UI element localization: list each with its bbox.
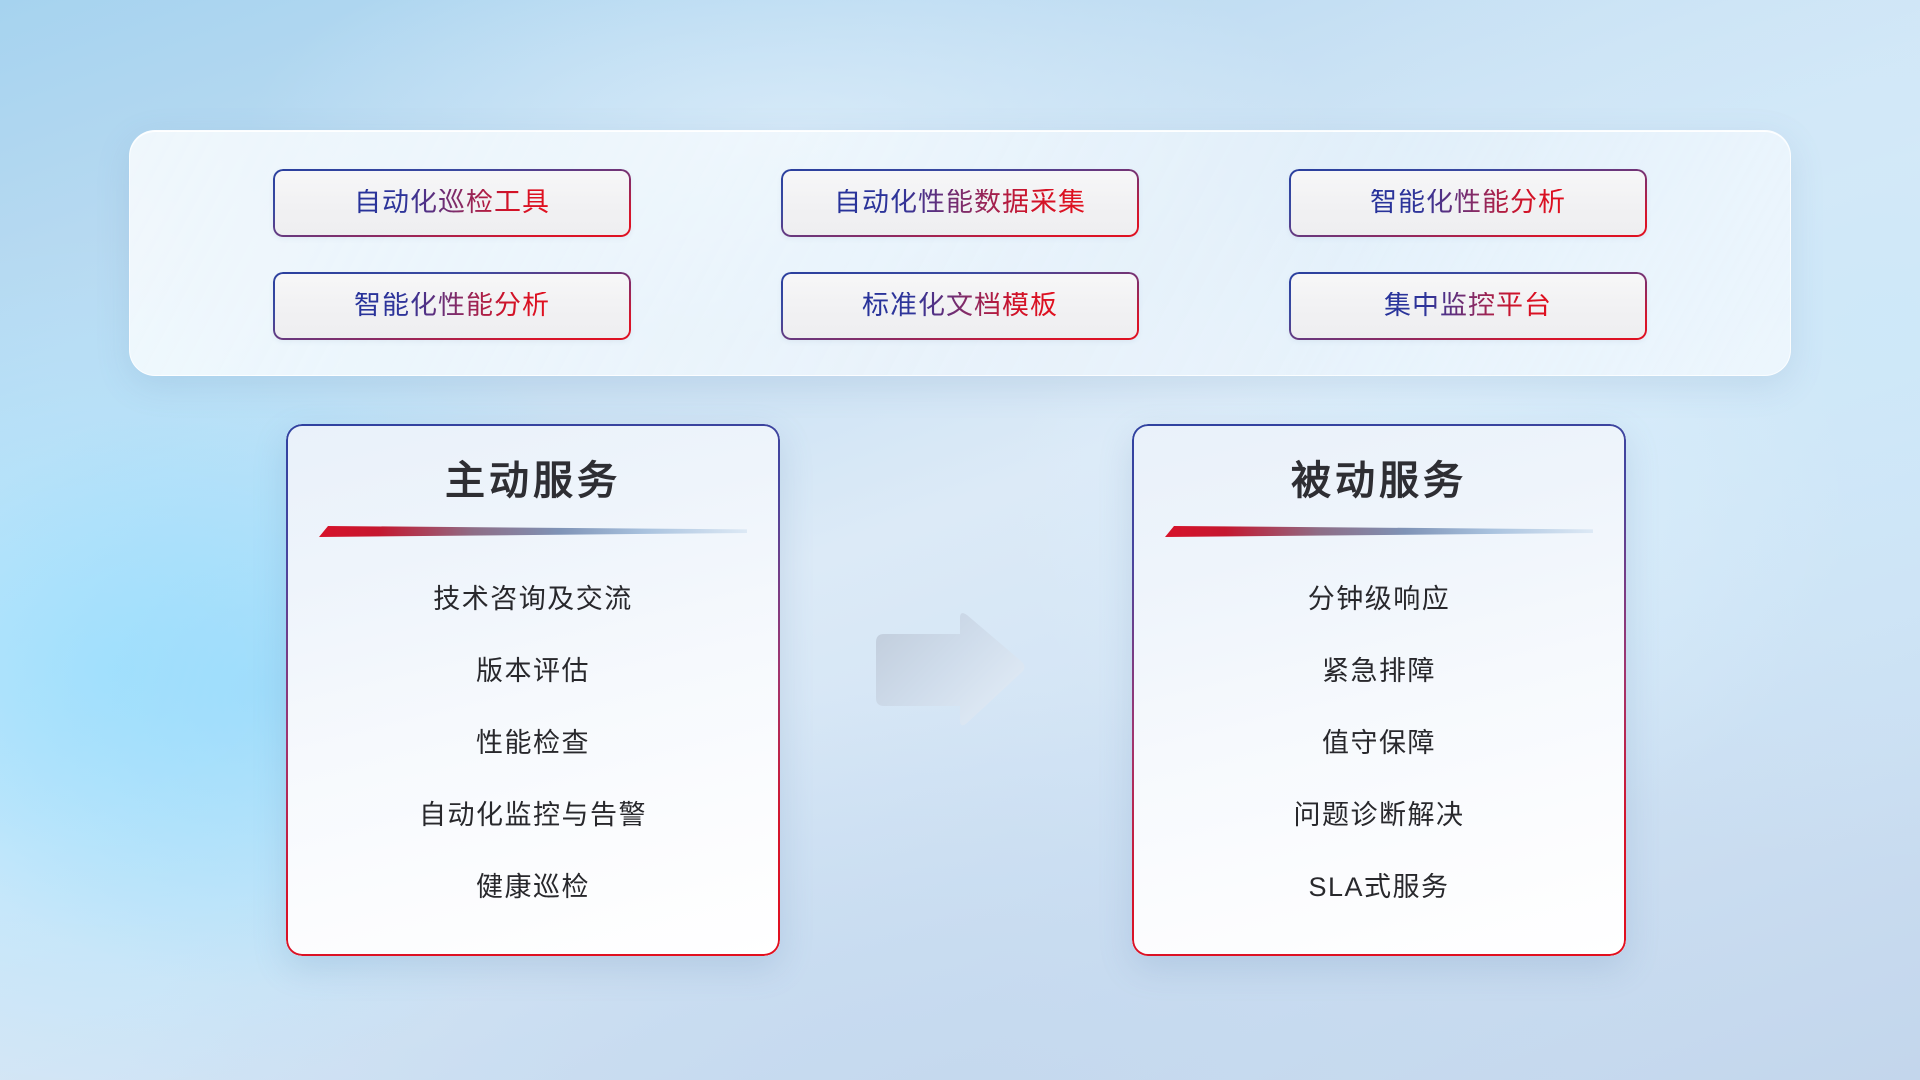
capability-chip-label: 自动化性能数据采集 — [834, 189, 1086, 216]
capability-panel: 自动化巡检工具 自动化性能数据采集 智能化性能分析 智能化性能分析 标准化文档模… — [129, 130, 1791, 376]
capability-cell: 智能化性能分析 — [1214, 161, 1722, 244]
capability-cell: 标准化文档模板 — [706, 264, 1214, 347]
capability-chip-intelligent-perf-analysis-top[interactable]: 智能化性能分析 — [1289, 169, 1647, 237]
capability-chip-standard-doc-template[interactable]: 标准化文档模板 — [781, 272, 1139, 340]
capability-chip-central-monitoring-platform[interactable]: 集中监控平台 — [1289, 272, 1647, 340]
list-item: 值守保障 — [1172, 707, 1586, 779]
capability-chip-automated-perf-data-collection[interactable]: 自动化性能数据采集 — [781, 169, 1139, 237]
card-list-passive: 分钟级响应 紧急排障 值守保障 问题诊断解决 SLA式服务 — [1172, 563, 1586, 923]
capability-chip-label: 智能化性能分析 — [1370, 189, 1566, 216]
list-item: 分钟级响应 — [1172, 563, 1586, 635]
divider-wedge-icon — [319, 526, 747, 537]
capability-chip-label: 智能化性能分析 — [354, 292, 550, 319]
capability-chip-intelligent-perf-analysis-bottom[interactable]: 智能化性能分析 — [273, 272, 631, 340]
list-item: SLA式服务 — [1172, 851, 1586, 923]
list-item: 问题诊断解决 — [1172, 779, 1586, 851]
list-item: 技术咨询及交流 — [326, 563, 740, 635]
card-title-passive: 被动服务 — [1291, 458, 1467, 504]
service-card-active: 主动服务 技术咨询及交流 版本评估 性能检查 — [286, 424, 780, 956]
card-title-active: 主动服务 — [445, 458, 621, 504]
capability-chip-label: 标准化文档模板 — [862, 292, 1058, 319]
list-item: 自动化监控与告警 — [326, 779, 740, 851]
service-card-passive: 被动服务 分钟级响应 紧急排障 值守保障 — [1132, 424, 1626, 956]
capability-cell: 集中监控平台 — [1214, 264, 1722, 347]
list-item: 紧急排障 — [1172, 635, 1586, 707]
card-divider-passive — [1165, 526, 1593, 537]
card-list-active: 技术咨询及交流 版本评估 性能检查 自动化监控与告警 健康巡检 — [326, 563, 740, 923]
list-item: 性能检查 — [326, 707, 740, 779]
right-arrow-shape — [868, 608, 1028, 734]
list-item: 健康巡检 — [326, 851, 740, 923]
divider-wedge-icon — [1165, 526, 1593, 537]
capability-cell: 自动化巡检工具 — [198, 161, 706, 244]
capability-chip-label: 集中监控平台 — [1384, 292, 1552, 319]
card-divider-active — [319, 526, 747, 537]
capability-chip-grid: 自动化巡检工具 自动化性能数据采集 智能化性能分析 智能化性能分析 标准化文档模… — [130, 161, 1790, 347]
capability-chip-automated-inspection-tool[interactable]: 自动化巡检工具 — [273, 169, 631, 237]
right-arrow-icon — [868, 608, 1028, 734]
list-item: 版本评估 — [326, 635, 740, 707]
capability-cell: 自动化性能数据采集 — [706, 161, 1214, 244]
capability-cell: 智能化性能分析 — [198, 264, 706, 347]
capability-chip-label: 自动化巡检工具 — [354, 189, 550, 216]
